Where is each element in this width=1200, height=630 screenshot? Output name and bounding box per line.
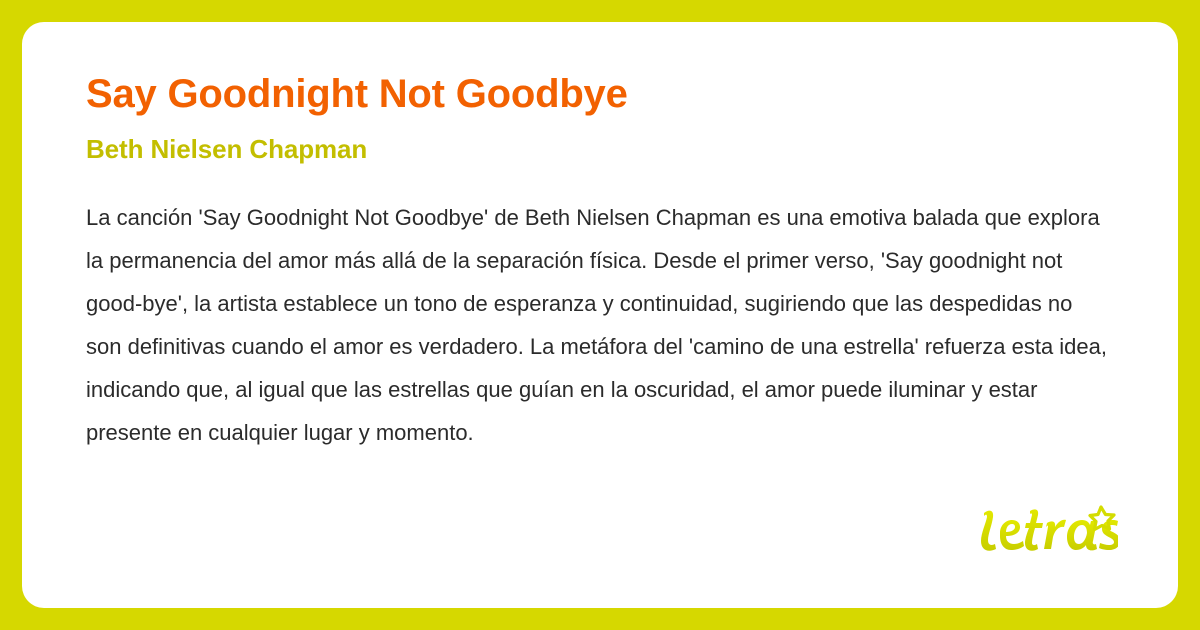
letras-logo-svg [978, 503, 1118, 555]
song-description: La canción 'Say Goodnight Not Goodbye' d… [86, 196, 1112, 454]
song-title: Say Goodnight Not Goodbye [86, 70, 1116, 118]
letras-logo[interactable] [978, 503, 1118, 555]
card-content: Say Goodnight Not Goodbye Beth Nielsen C… [86, 70, 1116, 454]
star-icon [1090, 507, 1114, 530]
artist-name: Beth Nielsen Chapman [86, 132, 1116, 166]
song-info-card: Say Goodnight Not Goodbye Beth Nielsen C… [22, 22, 1178, 608]
